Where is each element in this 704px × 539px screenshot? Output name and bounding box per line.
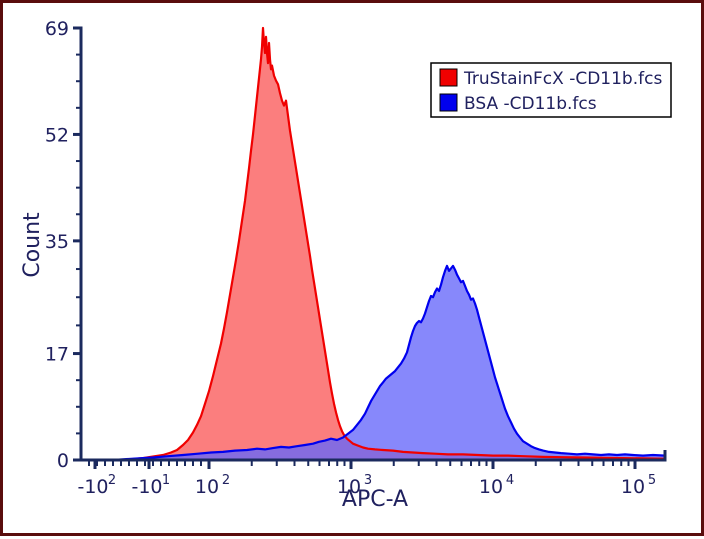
svg-text:5: 5	[648, 473, 656, 488]
histogram-plot: 017355269 -102-101102103104105 APC-A Cou…	[3, 3, 704, 539]
legend-swatch-blue	[440, 94, 457, 111]
y-tick-label: 17	[45, 344, 69, 366]
legend-label[interactable]: BSA -CD11b.fcs	[464, 94, 597, 114]
x-tick-label: 105	[621, 473, 656, 498]
x-tick-label: 102	[195, 473, 230, 498]
svg-text:10: 10	[479, 476, 503, 498]
y-tick-label: 52	[45, 124, 69, 146]
x-tick-label: 104	[479, 473, 514, 498]
y-tick-label: 0	[57, 450, 69, 472]
legend-swatch-red	[440, 69, 457, 86]
x-tick-label: -101	[131, 473, 170, 498]
figure-border: 017355269 -102-101102103104105 APC-A Cou…	[0, 0, 704, 536]
legend[interactable]: TruStainFcX -CD11b.fcsBSA -CD11b.fcs	[431, 63, 671, 117]
svg-text:2: 2	[222, 473, 230, 488]
y-tick-label: 35	[45, 231, 69, 253]
x-tick-label: -102	[77, 473, 116, 498]
svg-text:-10: -10	[77, 476, 108, 498]
svg-text:1: 1	[162, 473, 170, 488]
svg-text:2: 2	[108, 473, 116, 488]
svg-text:10: 10	[195, 476, 219, 498]
svg-text:-10: -10	[131, 476, 162, 498]
y-axis-title: Count	[20, 212, 45, 278]
series-fill-blue	[81, 266, 665, 460]
flow-cytometry-histogram: 017355269 -102-101102103104105 APC-A Cou…	[3, 3, 704, 539]
y-axis-tick-labels: 017355269	[45, 18, 69, 472]
y-tick-label: 69	[45, 18, 69, 40]
x-axis-title: APC-A	[342, 487, 408, 512]
svg-text:4: 4	[506, 473, 514, 488]
svg-text:10: 10	[621, 476, 645, 498]
svg-text:3: 3	[364, 473, 372, 488]
legend-label[interactable]: TruStainFcX -CD11b.fcs	[463, 69, 662, 89]
